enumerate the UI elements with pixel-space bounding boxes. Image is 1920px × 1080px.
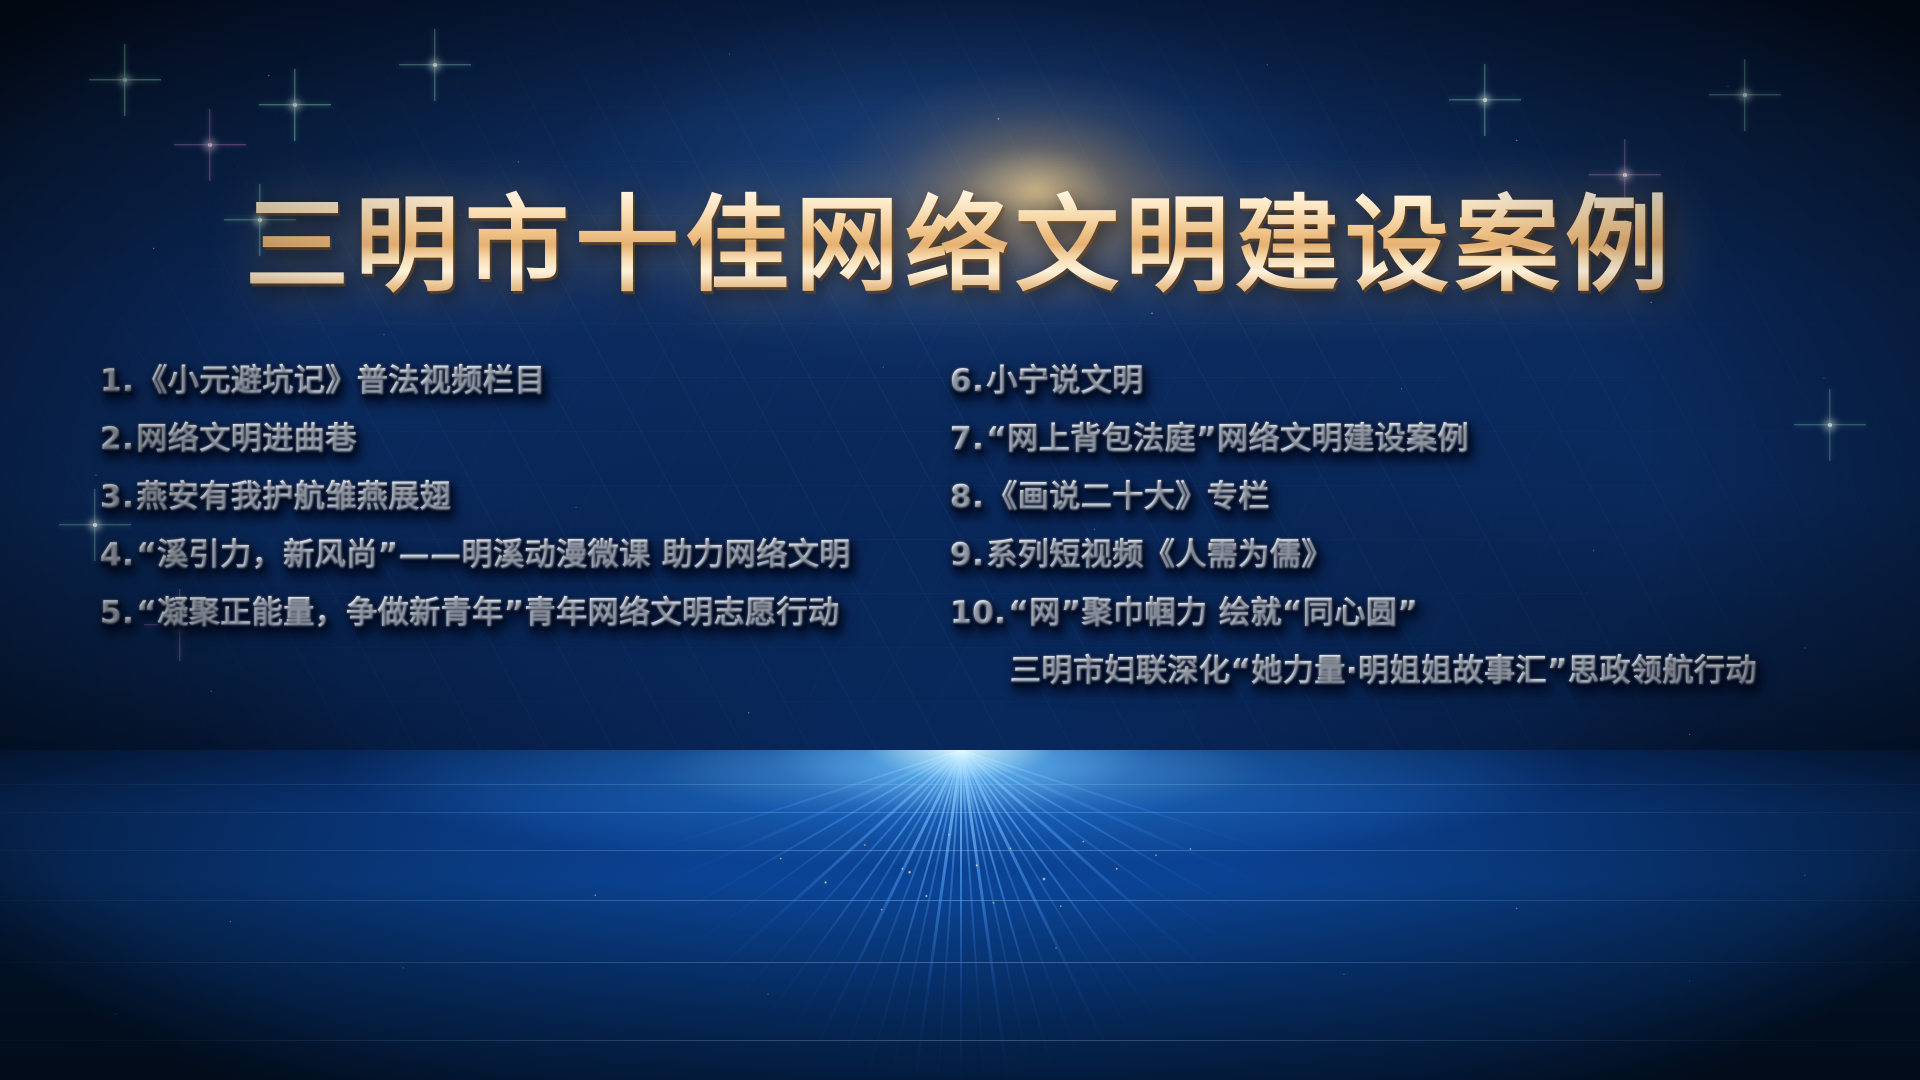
- list-item: 7. “网上背包法庭”网络文明建设案例: [950, 410, 1850, 468]
- list-item-continuation: 三明市妇联深化“她力量·明姐姐故事汇”思政领航行动: [950, 642, 1850, 700]
- list-item-number: 7.: [950, 410, 984, 468]
- list-item-number: 4.: [100, 526, 134, 584]
- list-item-number: 1.: [100, 352, 134, 410]
- list-item-label: 系列短视频《人需为儒》: [986, 526, 1333, 584]
- list-item-number: 10.: [950, 584, 1006, 642]
- sparkle-icon: [430, 60, 440, 70]
- list-item-label: 网络文明进曲巷: [136, 410, 357, 468]
- list-item-label: 燕安有我护航雏燕展翅: [136, 468, 451, 526]
- list-item-number: 2.: [100, 410, 134, 468]
- list-item-continuation-label: 三明市妇联深化“她力量·明姐姐故事汇”思政领航行动: [1010, 642, 1757, 700]
- sparkle-icon: [1480, 95, 1490, 105]
- list-item-label: 《画说二十大》专栏: [986, 468, 1270, 526]
- list-item-number: 8.: [950, 468, 984, 526]
- list-item: 6. 小宁说文明: [950, 352, 1850, 410]
- list-item-label: “网”聚巾帼力 绘就“同心圆”: [1008, 584, 1418, 642]
- list-item-number: 5.: [100, 584, 134, 642]
- list-item-number: 6.: [950, 352, 984, 410]
- list-item: 4. “溪引力，新风尚”——明溪动漫微课 助力网络文明: [100, 526, 920, 584]
- list-item: 5. “凝聚正能量，争做新青年”青年网络文明志愿行动: [100, 584, 920, 642]
- list-item-label: “溪引力，新风尚”——明溪动漫微课 助力网络文明: [136, 526, 851, 584]
- list-item-label: “网上背包法庭”网络文明建设案例: [986, 410, 1469, 468]
- case-list-right-column: 6. 小宁说文明 7. “网上背包法庭”网络文明建设案例 8. 《画说二十大》专…: [950, 352, 1850, 700]
- list-item-number: 3.: [100, 468, 134, 526]
- page-title: 三明市十佳网络文明建设案例: [245, 190, 1675, 300]
- list-item: 8. 《画说二十大》专栏: [950, 468, 1850, 526]
- list-item-number: 9.: [950, 526, 984, 584]
- sparkle-icon: [90, 520, 100, 530]
- list-item-label: 小宁说文明: [986, 352, 1144, 410]
- list-item: 2. 网络文明进曲巷: [100, 410, 920, 468]
- list-item: 1. 《小元避坑记》普法视频栏目: [100, 352, 920, 410]
- sparkle-icon: [290, 100, 300, 110]
- list-item: 10. “网”聚巾帼力 绘就“同心圆”: [950, 584, 1850, 642]
- list-item-label: “凝聚正能量，争做新青年”青年网络文明志愿行动: [136, 584, 839, 642]
- list-item-label: 《小元避坑记》普法视频栏目: [136, 352, 546, 410]
- sparkle-icon: [1740, 90, 1750, 100]
- golden-particle-cluster: [680, 760, 1240, 930]
- list-item: 3. 燕安有我护航雏燕展翅: [100, 468, 920, 526]
- case-list-left-column: 1. 《小元避坑记》普法视频栏目 2. 网络文明进曲巷 3. 燕安有我护航雏燕展…: [100, 352, 920, 642]
- title-block: 三明市十佳网络文明建设案例: [0, 120, 1920, 370]
- poster-canvas: 三明市十佳网络文明建设案例 1. 《小元避坑记》普法视频栏目 2. 网络文明进曲…: [0, 0, 1920, 1080]
- list-item: 9. 系列短视频《人需为儒》: [950, 526, 1850, 584]
- sparkle-icon: [120, 75, 130, 85]
